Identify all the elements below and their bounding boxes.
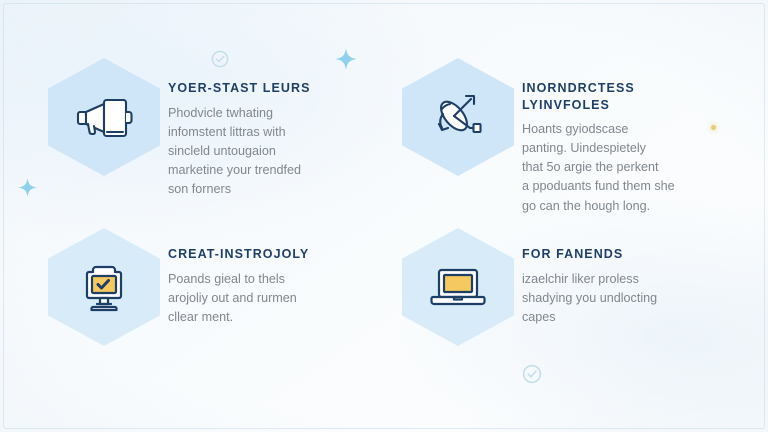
sparkle-decoration-left [18, 178, 37, 197]
megaphone-icon [48, 58, 160, 176]
feature-card-1-text: YOER-STAST LEURS Phodvicle twhating info… [168, 52, 340, 199]
feature-card-2-text: INORNDRCTESS LYINVFOLES Hoants gyiodscas… [522, 52, 704, 216]
feature-card-2-icon-container [394, 52, 522, 184]
feature-card-4-text: FOR FANENDS izaelchir liker proless shad… [522, 222, 700, 327]
feature-card-3-heading: CREAT-INSTROJOLY [168, 246, 340, 263]
feature-card-2-body: Hoants gyiodscase panting. Uindespietely… [522, 120, 704, 216]
feature-card-grid: YOER-STAST LEURS Phodvicle twhating info… [40, 52, 740, 392]
feature-card-1-heading: YOER-STAST LEURS [168, 80, 340, 97]
feature-card-1-body: Phodvicle twhating infomstent littras wi… [168, 104, 340, 200]
feature-card-2[interactable]: INORNDRCTESS LYINVFOLES Hoants gyiodscas… [394, 52, 740, 222]
feature-card-4-body: izaelchir liker proless shadying you und… [522, 270, 700, 327]
feature-card-3-icon-container [40, 222, 168, 354]
feature-card-1-icon-container [40, 52, 168, 184]
feature-card-4[interactable]: FOR FANENDS izaelchir liker proless shad… [394, 222, 740, 392]
feature-card-1[interactable]: YOER-STAST LEURS Phodvicle twhating info… [40, 52, 394, 222]
feature-card-3-text: CREAT-INSTROJOLY Poands gieal to thels a… [168, 222, 340, 327]
feature-card-2-heading: INORNDRCTESS LYINVFOLES [522, 80, 704, 113]
feature-card-4-icon-container [394, 222, 522, 354]
satellite-dish-icon [402, 58, 514, 176]
monitor-check-icon [48, 228, 160, 346]
feature-card-4-heading: FOR FANENDS [522, 246, 700, 263]
feature-card-3-body: Poands gieal to thels arojoliy out and r… [168, 270, 340, 327]
feature-card-3[interactable]: CREAT-INSTROJOLY Poands gieal to thels a… [40, 222, 394, 392]
laptop-icon [402, 228, 514, 346]
infographic-canvas: YOER-STAST LEURS Phodvicle twhating info… [0, 0, 768, 432]
